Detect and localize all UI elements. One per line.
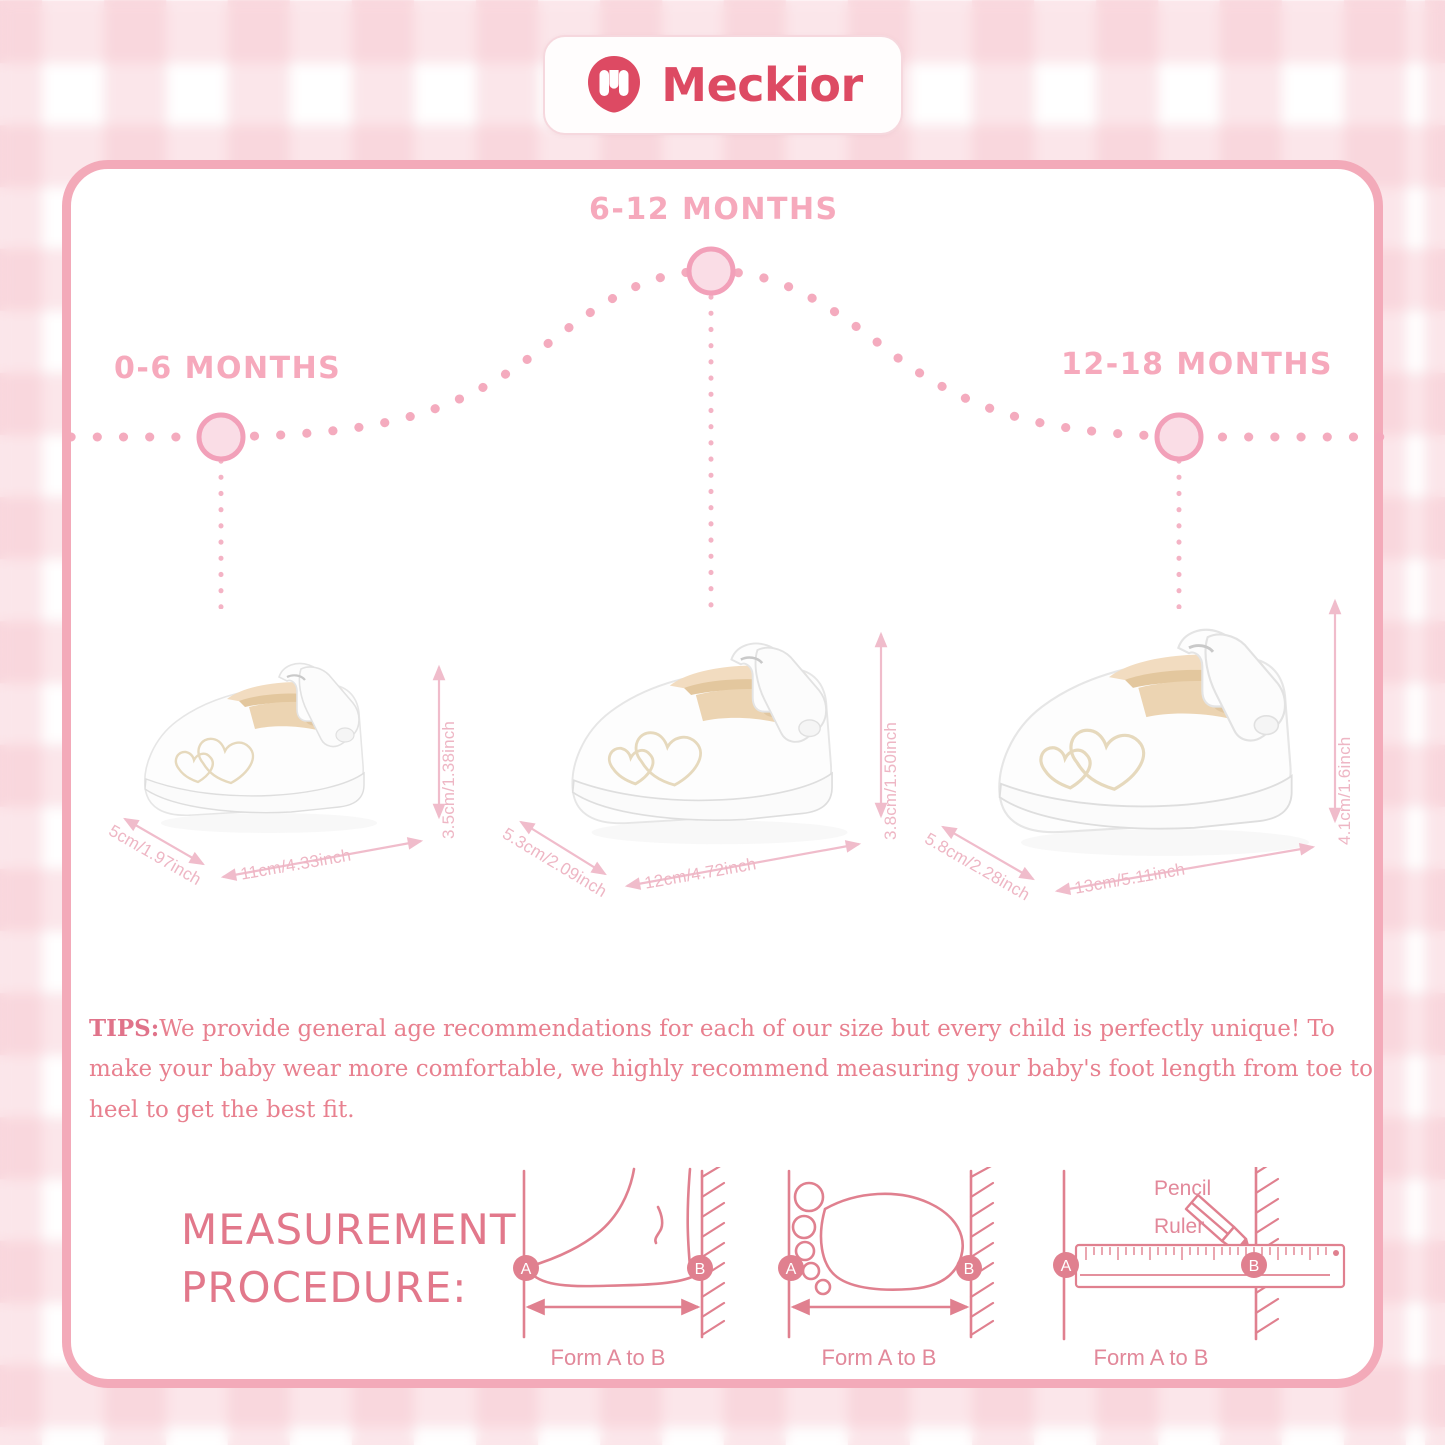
timeline-node-0 (199, 415, 243, 459)
size-chart-card: 0-6 MONTHS 6-12 MONTHS 12-18 MONTHS (62, 160, 1383, 1388)
size-entry-6-12-months: 5.3cm/2.09inch 12cm/4.72inch 3.8cm/1.50i… (501, 594, 941, 944)
age-label-0-6-months: 0-6 MONTHS (114, 351, 341, 386)
point-a-label: A (521, 1261, 532, 1278)
tips-paragraph: TIPS:We provide general age recommendati… (89, 1009, 1379, 1130)
meckior-m-logo-icon (583, 54, 645, 116)
timeline-node-2 (1157, 415, 1201, 459)
diagram-foot-bottom-view: A B Form A to B (771, 1167, 1011, 1367)
dimension-height-label: 4.1cm/1.6inch (1335, 737, 1355, 845)
timeline-curve (71, 169, 1392, 609)
age-label-12-18-months: 12-18 MONTHS (1061, 347, 1333, 382)
ruler-body (1076, 1245, 1344, 1287)
dimension-height-label: 3.5cm/1.38inch (439, 721, 459, 839)
point-b-label: B (964, 1261, 975, 1278)
dimension-height-label: 3.8cm/1.50inch (881, 722, 901, 840)
point-a-label: A (1061, 1258, 1072, 1275)
diagram-caption: Form A to B (506, 1345, 736, 1371)
diagram-ruler-pencil: A B Pencil Ruler Form A to B (1046, 1167, 1366, 1367)
foot-side-view-icon: A B (506, 1167, 736, 1342)
brand-name: Meckior (661, 58, 862, 112)
age-label-6-12-months: 6-12 MONTHS (589, 192, 839, 227)
foot-bottom-view-icon: A B (771, 1167, 1011, 1342)
diagram-caption: Form A to B (771, 1345, 1011, 1371)
brand-logo-badge: Meckior (543, 35, 903, 135)
point-a-label: A (786, 1261, 797, 1278)
measurement-procedure-section: MEASUREMENT PROCEDURE: (71, 1159, 1392, 1379)
ruler-label: Ruler (1154, 1215, 1204, 1239)
diagram-caption: Form A to B (1046, 1345, 1366, 1371)
measurement-title: MEASUREMENT PROCEDURE: (181, 1201, 516, 1317)
measurement-title-line1: MEASUREMENT (181, 1201, 516, 1259)
tips-label: TIPS: (89, 1015, 159, 1042)
size-entry-0-6-months: 5cm/1.97inch 11cm/4.33inch 3.5cm/1.38inc… (111, 609, 511, 939)
pencil-label: Pencil (1154, 1177, 1211, 1201)
dimension-arrows (501, 594, 941, 944)
measurement-title-line2: PROCEDURE: (181, 1259, 516, 1317)
tips-section: TIPS:We provide general age recommendati… (89, 1009, 1379, 1130)
tips-body: We provide general age recommendations f… (89, 1016, 1373, 1123)
point-b-label: B (1249, 1258, 1260, 1275)
point-b-label: B (695, 1261, 706, 1278)
dimension-arrows (921, 579, 1391, 949)
size-entry-12-18-months: 5.8cm/2.28inch 13cm/5.11inch 4.1cm/1.6in… (921, 579, 1391, 949)
timeline-node-1 (689, 249, 733, 293)
age-timeline: 0-6 MONTHS 6-12 MONTHS 12-18 MONTHS (71, 169, 1392, 609)
diagram-foot-side-view: A B Form A to B (506, 1167, 736, 1367)
